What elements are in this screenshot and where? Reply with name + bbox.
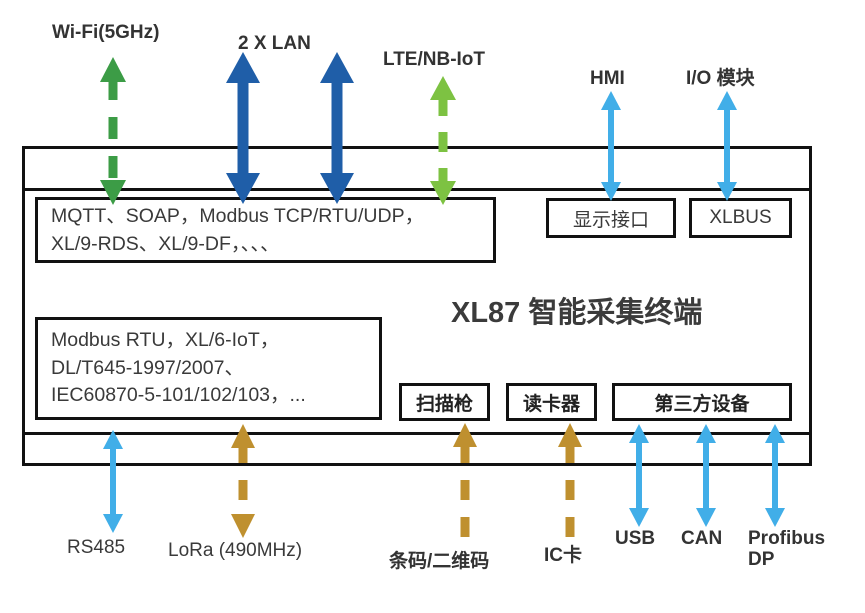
page-title: XL87 智能采集终端 bbox=[451, 289, 702, 331]
chassis-top-rail bbox=[22, 188, 812, 191]
label-can: CAN bbox=[681, 528, 722, 549]
label-rs485: RS485 bbox=[67, 537, 125, 559]
box-xlbus: XLBUS bbox=[689, 198, 792, 238]
label-profibus-line2: DP bbox=[748, 549, 774, 570]
box-display-interface: 显示接口 bbox=[546, 198, 676, 238]
label-lan: 2 X LAN bbox=[238, 33, 311, 54]
label-profibus: Profibus DP bbox=[748, 528, 825, 571]
box-third-party-device: 第三方设备 bbox=[612, 383, 792, 421]
label-wifi: Wi-Fi(5GHz) bbox=[52, 22, 159, 43]
label-io-module: I/O 模块 bbox=[686, 68, 755, 89]
card-reader-text: 读卡器 bbox=[515, 389, 588, 416]
label-ic-card: IC卡 bbox=[544, 545, 582, 566]
protocols-top-text: MQTT、SOAP，Modbus TCP/RTU/UDP， XL/9-RDS、X… bbox=[38, 202, 432, 259]
third-party-text: 第三方设备 bbox=[646, 389, 757, 416]
protocols-bottom-text: Modbus RTU，XL/6-IoT， DL/T645-1997/2007、 … bbox=[38, 327, 314, 410]
xlbus-text: XLBUS bbox=[701, 207, 779, 229]
label-barcode: 条码/二维码 bbox=[389, 551, 489, 572]
scanner-text: 扫描枪 bbox=[408, 389, 481, 416]
diagram-canvas: Wi-Fi(5GHz) 2 X LAN LTE/NB-IoT HMI I/O 模… bbox=[0, 0, 865, 613]
display-interface-text: 显示接口 bbox=[565, 205, 657, 232]
label-hmi: HMI bbox=[590, 68, 625, 89]
label-lora: LoRa (490MHz) bbox=[168, 540, 302, 562]
box-scanner: 扫描枪 bbox=[399, 383, 490, 421]
box-card-reader: 读卡器 bbox=[506, 383, 597, 421]
chassis-bottom-rail bbox=[22, 432, 812, 435]
label-usb: USB bbox=[615, 528, 655, 549]
box-protocols-bottom: Modbus RTU，XL/6-IoT， DL/T645-1997/2007、 … bbox=[35, 317, 382, 420]
label-profibus-line1: Profibus bbox=[748, 528, 825, 549]
label-lte: LTE/NB-IoT bbox=[383, 49, 485, 70]
box-protocols-top: MQTT、SOAP，Modbus TCP/RTU/UDP， XL/9-RDS、X… bbox=[35, 197, 496, 263]
